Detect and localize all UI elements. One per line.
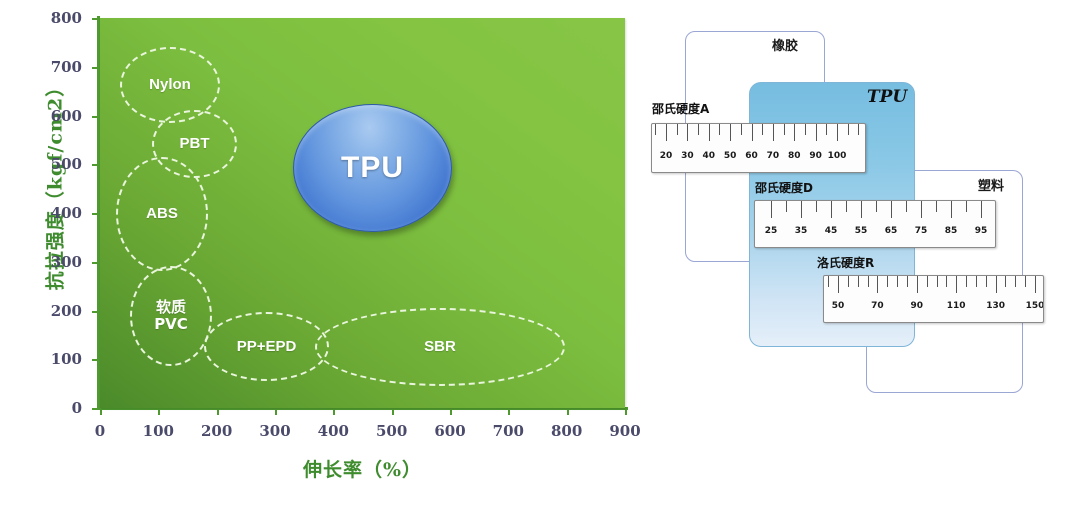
ruler-tick-minor [698, 124, 699, 135]
y-tick-mark [92, 164, 98, 166]
ruler-tick-major [861, 201, 862, 218]
ruler-tick-minor [946, 276, 947, 287]
y-tick-mark [92, 67, 98, 69]
x-tick-label: 900 [595, 422, 655, 440]
ruler-tick-major [981, 201, 982, 218]
region-soft-pvc-label: 软质 PVC [154, 299, 188, 334]
ruler-tick-number: 55 [846, 226, 876, 236]
region-abs: ABS [116, 157, 208, 271]
ruler-tick-major [771, 201, 772, 218]
x-tick-mark [217, 409, 219, 415]
ruler-shore-d: 2535455565758595 [754, 200, 996, 248]
region-sbr: SBR [315, 308, 565, 386]
region-nylon-label: Nylon [149, 76, 191, 93]
region-soft-pvc-line1: 软质 [156, 298, 186, 316]
ruler-tick-major [996, 276, 997, 293]
ruler-tick-minor [826, 124, 827, 135]
region-pp-epd: PP+EPD [204, 312, 329, 381]
y-tick-label: 200 [22, 302, 82, 320]
y-tick-mark [92, 18, 98, 20]
y-tick-mark [92, 213, 98, 215]
ruler-tick-number: 95 [966, 226, 996, 236]
x-tick-mark [100, 409, 102, 415]
x-tick-label: 700 [478, 422, 538, 440]
ruler-tick-minor [762, 124, 763, 135]
ruler-tick-minor [1025, 276, 1026, 287]
ruler-tick-number: 70 [862, 301, 892, 311]
tensile-elongation-chart: 抗拉强度（kgf/cm2） 伸长率（%） 8007006005004003002… [0, 0, 660, 505]
ruler-tick-number: 35 [786, 226, 816, 236]
ruler-tick-number: 90 [902, 301, 932, 311]
y-tick-mark [92, 359, 98, 361]
ruler-tick-minor [786, 201, 787, 212]
ruler-tick-minor [906, 201, 907, 212]
y-tick-label: 700 [22, 58, 82, 76]
x-tick-mark [333, 409, 335, 415]
category-label-rubber: 橡胶 [772, 35, 798, 54]
ruler-tick-minor [986, 276, 987, 287]
hardness-scale-diagram: 橡胶 塑料 TPU 邵氏硬度A 2030405060708090100 邵氏硬度… [660, 0, 1069, 505]
x-tick-label: 600 [420, 422, 480, 440]
ruler-tick-minor [966, 201, 967, 212]
ruler-tick-minor [848, 124, 849, 135]
y-axis-title: 抗拉强度（kgf/cm2） [41, 54, 68, 314]
ruler-tick-minor [976, 276, 977, 287]
ruler-tick-major [801, 201, 802, 218]
ruler-tick-minor [848, 276, 849, 287]
ruler-tick-minor [927, 276, 928, 287]
ruler-tick-minor [784, 124, 785, 135]
ruler-tick-number: 85 [936, 226, 966, 236]
plot-area: Nylon PBT ABS 软质 PVC PP+EPD SBR TPU [100, 18, 625, 408]
region-pp-epd-label: PP+EPD [237, 338, 297, 355]
ruler-tick-minor [677, 124, 678, 135]
y-tick-label: 400 [22, 204, 82, 222]
region-tpu-label: TPU [341, 151, 404, 185]
ruler-tick-number: 150 [1020, 301, 1044, 311]
ruler-tick-number: 45 [816, 226, 846, 236]
x-tick-mark [158, 409, 160, 415]
ruler-shore-a: 2030405060708090100 [651, 123, 866, 173]
ruler-tick-major [831, 201, 832, 218]
ruler-tick-major [816, 124, 817, 141]
y-tick-mark [92, 311, 98, 313]
y-tick-mark [92, 408, 98, 410]
ruler-tick-major [773, 124, 774, 141]
y-tick-label: 800 [22, 9, 82, 27]
ruler-tick-number: 25 [756, 226, 786, 236]
ruler-tick-minor [741, 124, 742, 135]
ruler-tick-major [666, 124, 667, 141]
x-tick-label: 100 [128, 422, 188, 440]
y-tick-mark [92, 116, 98, 118]
ruler-tick-minor [828, 276, 829, 287]
ruler-tick-major [877, 276, 878, 293]
ruler-rockwell-r: 507090110130150 [823, 275, 1044, 323]
ruler-tick-major [917, 276, 918, 293]
x-tick-label: 300 [245, 422, 305, 440]
ruler-tick-major [687, 124, 688, 141]
ruler-tick-minor [1005, 276, 1006, 287]
ruler-tick-major [956, 276, 957, 293]
y-tick-label: 300 [22, 253, 82, 271]
y-tick-label: 600 [22, 107, 82, 125]
ruler-tick-minor [805, 124, 806, 135]
ruler-tick-minor [1015, 276, 1016, 287]
x-tick-mark [625, 409, 627, 415]
x-tick-label: 0 [70, 422, 130, 440]
ruler-tick-major [891, 201, 892, 218]
ruler-tick-major [951, 201, 952, 218]
y-tick-mark [92, 262, 98, 264]
ruler-tick-number: 50 [823, 301, 853, 311]
ruler-tick-number: 130 [981, 301, 1011, 311]
ruler-tick-minor [937, 276, 938, 287]
ruler-tick-major [838, 276, 839, 293]
ruler-label-rockwell-r: 洛氏硬度R [817, 254, 874, 271]
ruler-tick-number: 100 [822, 151, 852, 161]
ruler-tick-number: 75 [906, 226, 936, 236]
ruler-tick-minor [846, 201, 847, 212]
ruler-tick-major [921, 201, 922, 218]
ruler-tick-minor [868, 276, 869, 287]
ruler-tick-minor [816, 201, 817, 212]
ruler-tick-minor [655, 124, 656, 135]
x-tick-mark [508, 409, 510, 415]
ruler-tick-major [837, 124, 838, 141]
ruler-tick-major [752, 124, 753, 141]
region-pbt-label: PBT [180, 135, 210, 152]
y-tick-label: 0 [22, 399, 82, 417]
ruler-tick-major [1035, 276, 1036, 293]
x-tick-mark [567, 409, 569, 415]
x-tick-mark [392, 409, 394, 415]
region-abs-label: ABS [146, 205, 178, 222]
x-axis-title: 伸长率（%） [100, 455, 625, 482]
category-label-plastic: 塑料 [978, 175, 1004, 194]
ruler-tick-minor [887, 276, 888, 287]
ruler-tick-minor [897, 276, 898, 287]
ruler-tick-minor [858, 276, 859, 287]
ruler-tick-minor [719, 124, 720, 135]
ruler-tick-number: 110 [941, 301, 971, 311]
ruler-tick-minor [907, 276, 908, 287]
region-tpu: TPU [293, 104, 452, 232]
x-tick-mark [275, 409, 277, 415]
region-soft-pvc: 软质 PVC [130, 266, 212, 366]
ruler-tick-major [709, 124, 710, 141]
ruler-tick-minor [858, 124, 859, 135]
region-sbr-label: SBR [424, 338, 456, 355]
ruler-tick-number: 65 [876, 226, 906, 236]
ruler-tick-minor [936, 201, 937, 212]
ruler-tick-minor [876, 201, 877, 212]
ruler-label-shore-a: 邵氏硬度A [652, 100, 709, 117]
x-tick-label: 800 [537, 422, 597, 440]
ruler-tick-minor [966, 276, 967, 287]
ruler-tick-major [730, 124, 731, 141]
category-label-tpu: TPU [867, 87, 907, 107]
x-tick-mark [450, 409, 452, 415]
region-soft-pvc-line2: PVC [154, 315, 188, 333]
ruler-tick-major [794, 124, 795, 141]
x-tick-label: 200 [187, 422, 247, 440]
y-tick-label: 500 [22, 155, 82, 173]
ruler-label-shore-d: 邵氏硬度D [755, 179, 813, 196]
x-tick-label: 400 [303, 422, 363, 440]
x-tick-label: 500 [362, 422, 422, 440]
y-tick-label: 100 [22, 350, 82, 368]
